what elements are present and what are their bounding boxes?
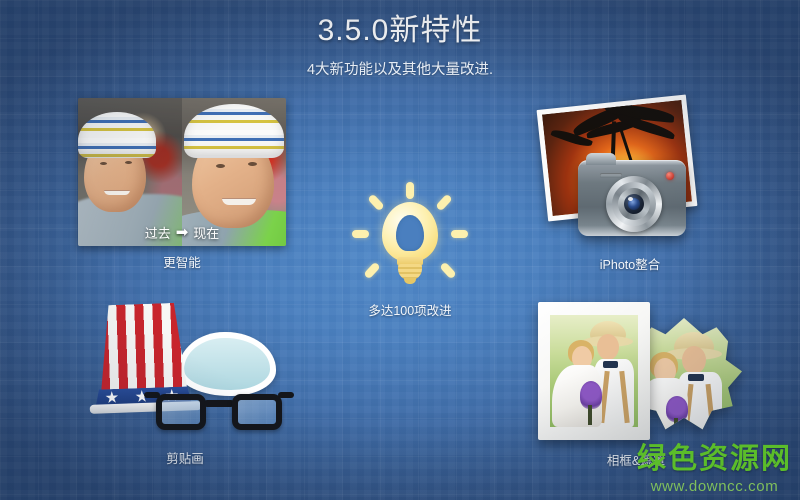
bowtie	[603, 361, 618, 368]
bulb-ray-icon	[367, 194, 384, 212]
overlay-label-after: 现在	[193, 223, 219, 242]
feature-caption-clipart: 剪贴画	[80, 448, 290, 467]
lightbulb-icon[interactable]	[350, 182, 470, 294]
photo-before-eye	[125, 161, 132, 164]
feature-smarter[interactable]: 过去 ➡ 现在 更智能	[78, 98, 286, 271]
feature-caption-improvements: 多达100项改进	[350, 300, 470, 319]
feature-clipart[interactable]: 剪贴画	[80, 302, 290, 467]
wedding-photo	[550, 315, 638, 427]
masked-bouquet-stem	[674, 418, 678, 434]
bulb-tip	[404, 278, 416, 284]
hat-crown	[98, 302, 187, 391]
bulb-ray-icon	[363, 262, 380, 280]
overlay-label-before: 过去	[145, 223, 171, 242]
photo-before-eye	[100, 162, 107, 165]
photo-before-mouth	[104, 190, 130, 195]
clipart-hat-cloud-glasses-icon[interactable]	[80, 302, 290, 442]
camera-indicator-light	[666, 172, 674, 180]
masked-groom-head	[682, 346, 706, 374]
watermark: 绿色资源网 www.downcc.com	[637, 445, 792, 494]
glasses-bridge	[204, 400, 234, 407]
feature-improvements[interactable]: 多达100项改进	[350, 182, 470, 319]
glasses-lens-right	[232, 394, 282, 430]
camera-viewfinder	[600, 173, 622, 178]
watermark-url: www.downcc.com	[637, 479, 792, 494]
camera-body	[578, 160, 686, 236]
page-header: 3.5.0新特性 4大新功能以及其他大量改进.	[0, 14, 800, 79]
picture-frame-mask-icon[interactable]	[530, 302, 742, 444]
camera-top-hump	[586, 153, 616, 165]
before-after-overlay: 过去 ➡ 现在	[78, 218, 286, 246]
bulb-ray-icon	[352, 230, 369, 238]
bulb-ray-icon	[439, 262, 456, 280]
star-icon	[105, 391, 118, 404]
feature-iphoto[interactable]: iPhoto整合	[530, 98, 730, 273]
feature-caption-iphoto: iPhoto整合	[530, 254, 730, 273]
before-after-photo[interactable]: 过去 ➡ 现在	[78, 98, 286, 246]
groom-head	[597, 334, 619, 360]
photo-after-eye	[216, 164, 225, 168]
feature-caption-smarter: 更智能	[78, 252, 286, 271]
white-picture-frame	[538, 302, 650, 440]
masked-bowtie	[688, 374, 704, 381]
cloud-icon	[178, 332, 276, 396]
bulb-ray-icon	[435, 194, 452, 212]
bulb-filament-cutout	[396, 215, 424, 251]
watermark-site-name: 绿色资源网	[637, 445, 792, 474]
bulb-ray-icon	[451, 230, 468, 238]
camera-lens-glint	[628, 197, 633, 201]
photo-after-mouth	[222, 198, 256, 205]
app-screen: 3.5.0新特性 4大新功能以及其他大量改进.	[0, 0, 800, 500]
page-subtitle: 4大新功能以及其他大量改进.	[0, 58, 800, 79]
photo-after-eye	[248, 162, 257, 166]
page-title: 3.5.0新特性	[0, 14, 800, 49]
bouquet-stem	[588, 405, 592, 425]
camera-photo-icon[interactable]	[530, 98, 730, 248]
arrow-right-icon: ➡	[176, 225, 189, 240]
glasses-lens-left	[156, 394, 206, 430]
glasses-icon	[156, 388, 282, 432]
glasses-temple	[278, 392, 294, 398]
bulb-ray-icon	[406, 182, 414, 199]
